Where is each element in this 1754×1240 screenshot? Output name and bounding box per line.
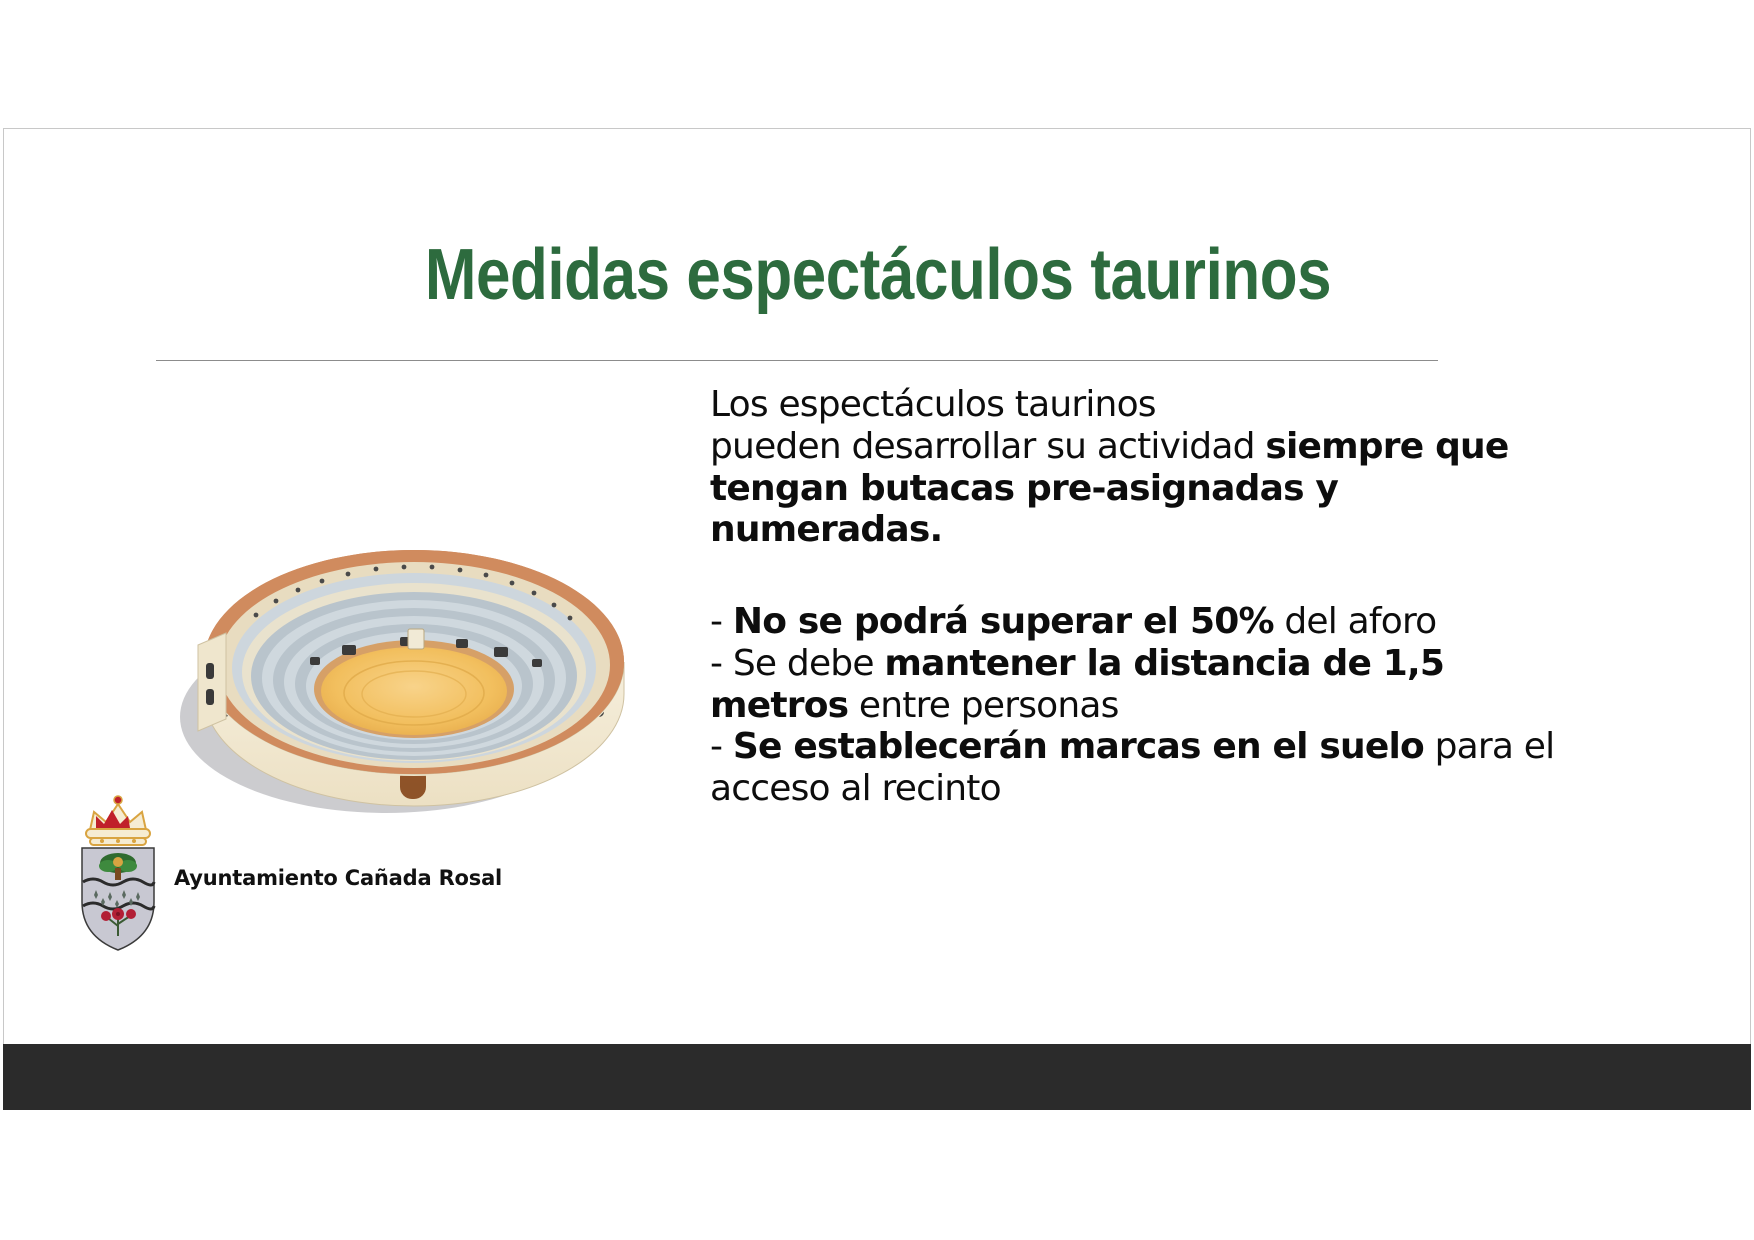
title-divider: [156, 360, 1438, 361]
shield: [82, 848, 154, 950]
bullet-bold-3: Se establecerán marcas en el suelo: [733, 726, 1424, 767]
crown-icon: [86, 796, 150, 845]
intro-paragraph: pueden desarrollar su actividad siempre …: [710, 426, 1555, 551]
bullet-plain-1: del aforo: [1274, 601, 1437, 642]
municipality-label: Ayuntamiento Cañada Rosal: [174, 866, 502, 890]
intro-plain-2: pueden desarrollar su actividad: [710, 426, 1265, 467]
slide-canvas: Medidas espectáculos taurinos: [3, 128, 1751, 1110]
bullet-dash-3: -: [710, 726, 722, 767]
page-title: Medidas espectáculos taurinos: [126, 239, 1629, 311]
bullet-lead-2: Se debe: [733, 643, 885, 684]
bullet-dash-1: -: [710, 601, 722, 642]
body-text-column: Los espectáculos taurinos pueden desarro…: [710, 384, 1555, 810]
bullet-bold-1: No se podrá superar el 50%: [733, 601, 1274, 642]
bullet-list: - No se podrá superar el 50% del aforo -…: [710, 601, 1555, 810]
bullet-plain-2: entre personas: [848, 685, 1118, 726]
intro-line-1: Los espectáculos taurinos: [710, 384, 1555, 426]
tower: [198, 633, 226, 731]
footer-logo-group: Ayuntamiento Cañada Rosal: [72, 784, 492, 974]
paragraph-spacer: [710, 551, 1555, 601]
bottom-band: [3, 1044, 1751, 1110]
bullet-item-3: - Se establecerán marcas en el suelo par…: [710, 726, 1555, 810]
bullet-dash-2: -: [710, 643, 722, 684]
bullet-item-2: - Se debe mantener la distancia de 1,5 m…: [710, 643, 1555, 727]
bullet-item-1: - No se podrá superar el 50% del aforo: [710, 601, 1555, 643]
